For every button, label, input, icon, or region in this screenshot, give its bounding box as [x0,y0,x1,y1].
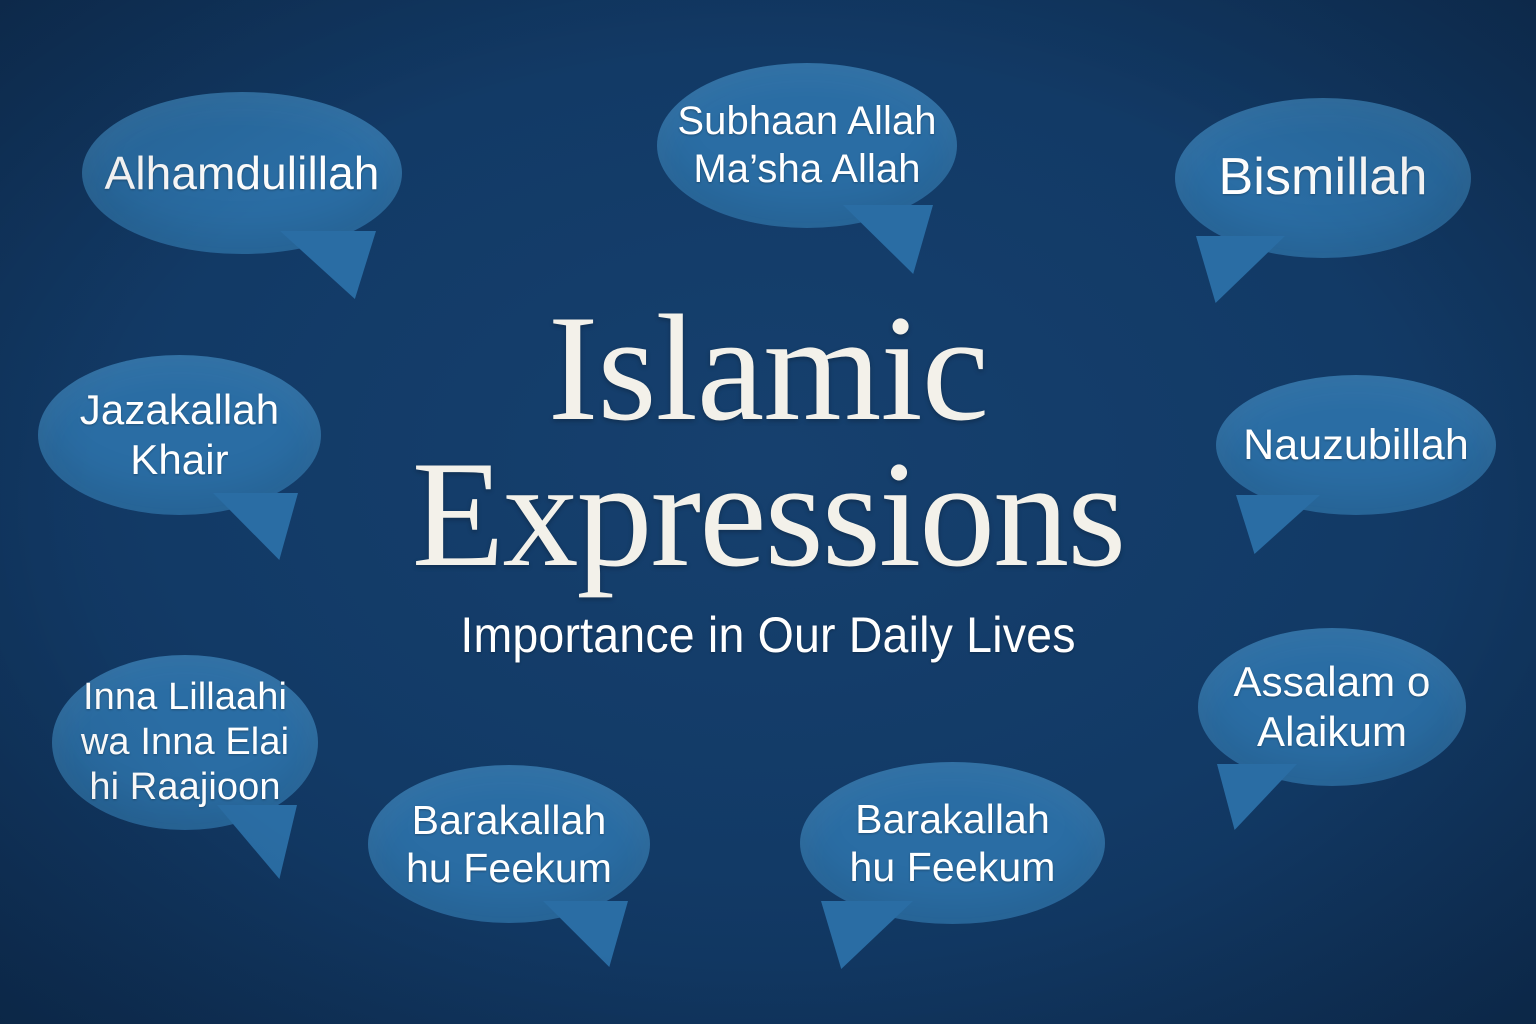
speech-bubble-subhaan-allah-masha-allah: Subhaan AllahMa’sha Allah [657,63,957,228]
bubble-text-line: hu Feekum [849,843,1055,891]
bubble-text-line: Inna Lillaahi [83,675,287,720]
speech-bubble-bismillah: Bismillah [1175,98,1471,258]
speech-bubble-tail [1217,764,1297,830]
speech-bubble-tail [821,901,913,969]
speech-bubble-tail [217,805,297,879]
bubble-text-line: Ma’sha Allah [693,146,920,193]
speech-bubble-tail [1196,236,1285,303]
speech-bubble-tail [1236,495,1320,554]
bubble-text-line: Alhamdulillah [105,146,380,200]
speech-bubble-nauzubillah: Nauzubillah [1216,375,1496,515]
speech-bubble-tail [213,493,298,560]
speech-bubble-tail [543,901,628,967]
bubble-text-line: Barakallah [855,795,1050,843]
speech-bubble-tail [280,231,376,299]
bubble-text-line: Nauzubillah [1243,420,1469,471]
speech-bubble-barakallahu-feekum-right: Barakallahhu Feekum [800,762,1105,924]
bubble-text-line: Alaikum [1257,707,1407,757]
bubble-text-line: Barakallah [412,796,607,844]
bubble-text-line: Jazakallah [80,385,279,435]
poster-canvas: AlhamdulillahSubhaan AllahMa’sha AllahBi… [0,0,1536,1024]
bubble-text-line: Bismillah [1219,147,1428,208]
bubble-text-line: Subhaan Allah [677,98,936,145]
speech-bubble-assalam-o-alaikum: Assalam oAlaikum [1198,628,1466,786]
speech-bubble-tail [843,205,933,274]
speech-bubble-alhamdulillah: Alhamdulillah [82,92,402,254]
bubble-text-line: Assalam o [1234,657,1431,707]
bubble-text-line: hu Feekum [406,844,612,892]
speech-bubble-barakallahu-feekum-left: Barakallahhu Feekum [368,765,650,923]
speech-bubble-jazakallah-khair: JazakallahKhair [38,355,321,515]
bubble-text-line: hi Raajioon [89,765,280,810]
bubble-text-line: Khair [130,435,229,485]
speech-bubble-inna-lillaahi: Inna Lillaahiwa Inna Elaihi Raajioon [52,655,318,830]
bubble-text-line: wa Inna Elai [81,720,289,765]
